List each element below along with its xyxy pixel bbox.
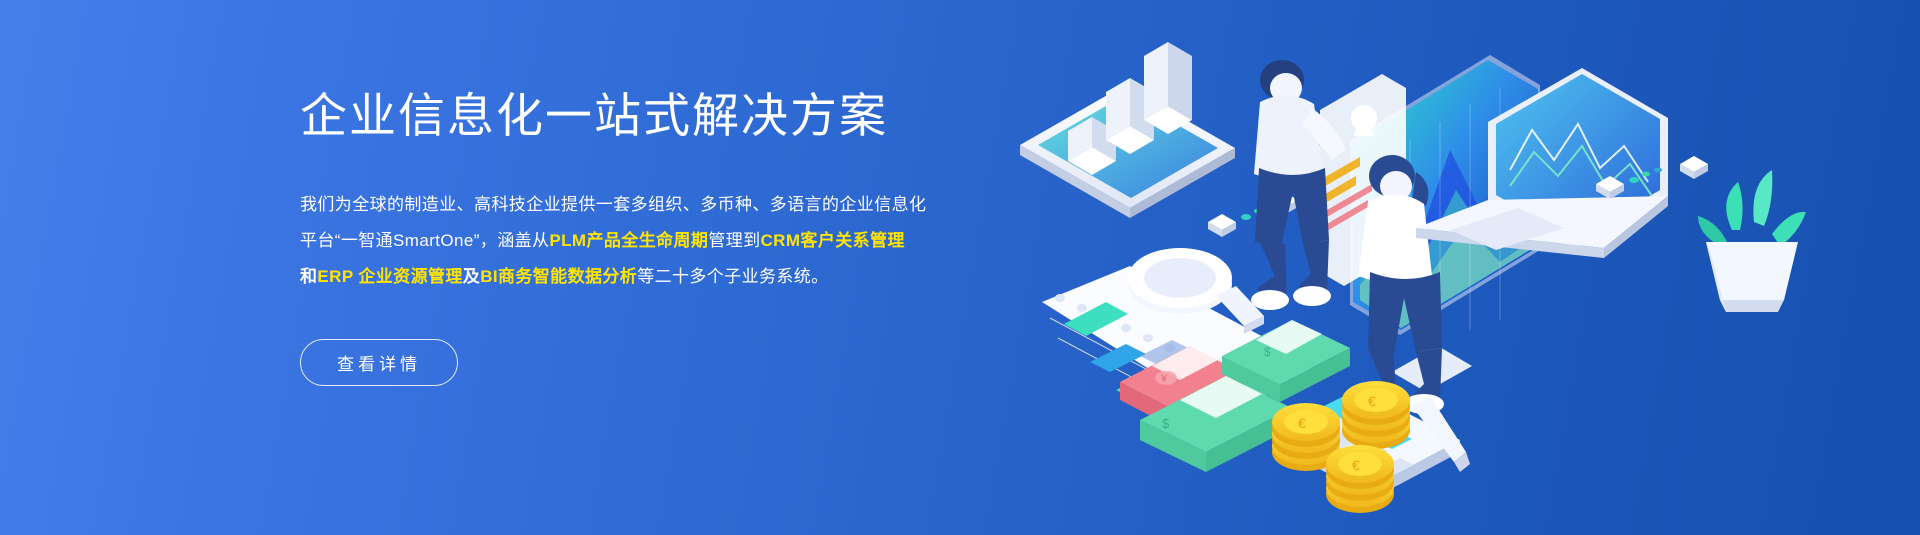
hero-description: 我们为全球的制造业、高科技企业提供一套多组织、多币种、多语言的企业信息化 平台“… [300,187,980,295]
description-line-2-prefix: 平台“一智通SmartOne”，涵盖从 [300,231,549,250]
svg-text:$: $ [1162,416,1170,431]
description-line-3-prefix: 和 [300,267,317,286]
description-line-1: 我们为全球的制造业、高科技企业提供一套多组织、多币种、多语言的企业信息化 [300,195,926,214]
highlight-crm: CRM客户关系管理 [761,231,905,250]
highlight-plm: PLM产品全生命周期 [549,231,708,250]
highlight-erp: ERP 企业资源管理 [317,267,462,286]
description-line-2-middle: 管理到 [708,231,760,250]
potted-plant [1698,170,1806,312]
svg-text:¥: ¥ [1160,373,1168,385]
description-line-3-middle: 及 [463,267,480,286]
page-title: 企业信息化一站式解决方案 [300,88,980,143]
svg-text:€: € [1352,457,1360,473]
hero-banner: 企业信息化一站式解决方案 我们为全球的制造业、高科技企业提供一套多组织、多币种、… [0,0,1920,535]
description-line-3-suffix: 等二十多个子业务系统。 [637,267,828,286]
tablet-bar-chart [1020,42,1235,218]
hero-illustration: ¥ $ $ [1020,0,1920,535]
svg-text:$: $ [1264,345,1271,359]
view-details-button[interactable]: 查看详情 [300,339,458,386]
svg-text:€: € [1368,393,1376,409]
highlight-bi: BI商务智能数据分析 [480,267,637,286]
svg-text:€: € [1298,415,1306,431]
hero-copy-block: 企业信息化一站式解决方案 我们为全球的制造业、高科技企业提供一套多组织、多币种、… [300,88,980,386]
